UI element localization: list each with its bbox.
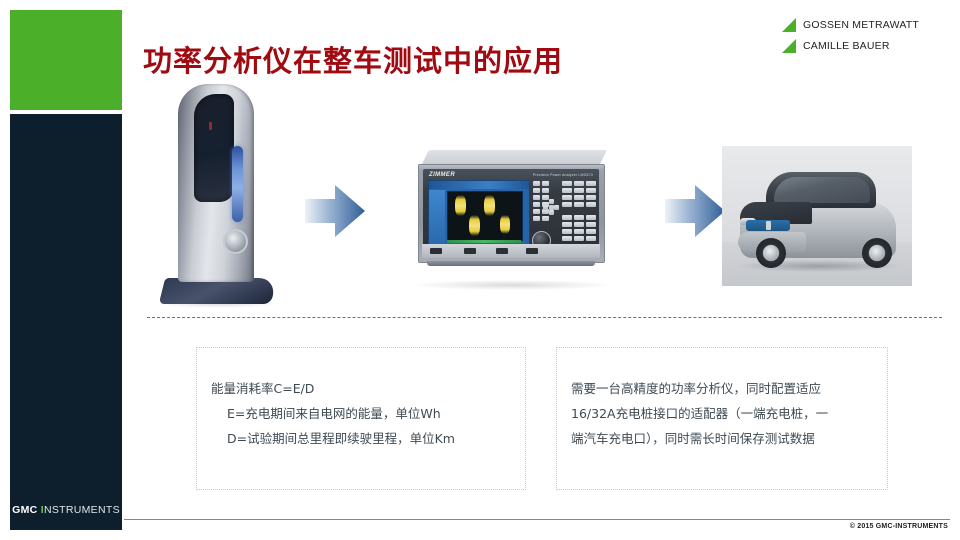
keypad-key — [562, 236, 572, 241]
power-analyzer-image: ZIMMER Precision Power Analyzer LMG670 — [418, 150, 608, 278]
power-analyzer-brand-label: ZIMMER — [429, 172, 455, 178]
power-analyzer-front-panel: ZIMMER Precision Power Analyzer LMG670 — [418, 164, 605, 263]
keypad-key — [574, 215, 584, 220]
dpad-up — [549, 199, 554, 204]
power-analyzer-shadow — [412, 280, 612, 290]
car-windows — [774, 177, 870, 203]
keypad-key — [574, 229, 584, 234]
requirements-line: 端汽车充电口），同时需长时间保存测试数据 — [571, 426, 871, 451]
formula-line: E=充电期间来自电网的能量，单位Wh — [211, 401, 509, 426]
brand-prefix: GMC — [12, 504, 37, 516]
lcd-waveform-area — [447, 191, 523, 241]
formula-textbox: 能量消耗率C=E/D E=充电期间来自电网的能量，单位Wh D=试验期间总里程即… — [196, 347, 526, 490]
keypad-key — [562, 229, 572, 234]
keypad-key — [586, 181, 596, 186]
charging-station-image — [156, 82, 286, 304]
arrow-right-icon-2 — [665, 183, 727, 239]
section-divider — [147, 317, 942, 318]
charging-station-led-strip — [232, 146, 243, 222]
power-analyzer-upper-keypad — [562, 181, 596, 207]
softkey — [533, 216, 540, 221]
dpad-center — [549, 205, 554, 210]
power-analyzer-dpad — [543, 199, 559, 215]
charging-station-button — [223, 229, 248, 254]
connector-port — [496, 248, 508, 254]
keypad-key — [586, 236, 596, 241]
softkey — [542, 216, 549, 221]
waveform-trace — [469, 215, 480, 236]
lcd-status-bar — [447, 240, 521, 243]
brand-suffix: NSTRUMENTS — [44, 504, 120, 516]
keypad-key — [586, 215, 596, 220]
power-analyzer-lcd-screen — [428, 180, 530, 245]
connector-port — [464, 248, 476, 254]
power-analyzer-bezel: ZIMMER Precision Power Analyzer LMG670 — [423, 169, 599, 249]
arrow-right-icon-1 — [305, 183, 367, 239]
formula-textbox-content: 能量消耗率C=E/D E=充电期间来自电网的能量，单位Wh D=试验期间总里程即… — [197, 348, 525, 451]
keypad-key — [562, 202, 572, 207]
car-front-wheel — [756, 238, 786, 268]
keypad-key — [574, 181, 584, 186]
softkey — [542, 188, 549, 193]
charging-station-body — [178, 84, 254, 282]
connector-port — [526, 248, 538, 254]
requirements-line: 需要一台高精度的功率分析仪，同时配置适应 — [571, 376, 871, 401]
power-analyzer-model-label: Precision Power Analyzer LMG670 — [533, 173, 593, 177]
formula-line: 能量消耗率C=E/D — [211, 376, 509, 401]
keypad-key — [562, 215, 572, 220]
dpad-down — [549, 210, 554, 215]
keypad-key — [562, 181, 572, 186]
keypad-key — [586, 229, 596, 234]
keypad-key — [586, 222, 596, 227]
keypad-key — [562, 222, 572, 227]
lcd-side-panel — [429, 190, 445, 244]
keypad-key — [586, 202, 596, 207]
waveform-trace — [455, 195, 466, 216]
keypad-key — [574, 195, 584, 200]
requirements-textbox-content: 需要一台高精度的功率分析仪，同时配置适应 16/32A充电桩接口的适配器（一端充… — [557, 348, 887, 451]
lcd-title-bar — [429, 181, 529, 189]
softkey — [533, 188, 540, 193]
keypad-key — [562, 195, 572, 200]
power-analyzer-feet — [427, 261, 595, 266]
softkey — [533, 202, 540, 207]
softkey — [533, 181, 540, 186]
softkey — [533, 195, 540, 200]
keypad-key — [574, 222, 584, 227]
dpad-left — [543, 205, 548, 210]
requirements-textbox: 需要一台高精度的功率分析仪，同时配置适应 16/32A充电桩接口的适配器（一端充… — [556, 347, 888, 490]
keypad-key — [574, 202, 584, 207]
electric-car-image — [722, 146, 912, 286]
diagram-row: ZIMMER Precision Power Analyzer LMG670 — [0, 0, 960, 320]
formula-line: D=试验期间总里程即续驶里程，单位Km — [211, 426, 509, 451]
keypad-key — [562, 188, 572, 193]
power-analyzer-connector-strip — [422, 244, 600, 258]
keypad-key — [586, 195, 596, 200]
keypad-key — [574, 236, 584, 241]
waveform-trace — [500, 215, 510, 234]
waveform-trace — [484, 195, 495, 216]
charging-station-screen — [194, 94, 234, 202]
softkey — [533, 209, 540, 214]
copyright-text: © 2015 GMC-INSTRUMENTS — [850, 523, 948, 530]
softkey — [542, 181, 549, 186]
footer-divider — [124, 519, 950, 520]
car-grille — [746, 220, 790, 231]
dpad-right — [554, 205, 559, 210]
requirements-line: 16/32A充电桩接口的适配器（一端充电桩，一 — [571, 401, 871, 426]
power-analyzer-lower-keypad — [562, 215, 596, 241]
sidebar-brand-logo: GMC INSTRUMENTS — [10, 504, 122, 516]
keypad-key — [574, 188, 584, 193]
car-rear-wheel — [862, 238, 892, 268]
keypad-key — [586, 188, 596, 193]
connector-port — [430, 248, 442, 254]
